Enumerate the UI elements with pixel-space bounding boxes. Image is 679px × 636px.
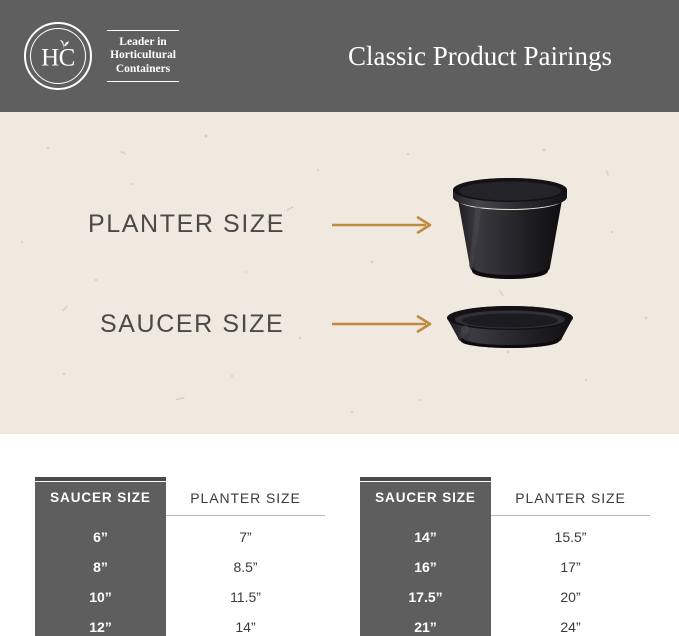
tagline-rule-top <box>107 30 179 31</box>
table-row: 14” <box>360 522 491 552</box>
tagline-rule-bottom <box>107 81 179 82</box>
paper-texture-speckles <box>0 112 679 434</box>
table-row: 6” <box>35 522 166 552</box>
saucer-size-label: SAUCER SIZE <box>100 310 284 339</box>
column-header-planter-size: PLANTER SIZE <box>491 482 650 514</box>
table-row: 24” <box>491 612 650 636</box>
table-row: 7” <box>166 522 325 552</box>
table-row: 14” <box>166 612 325 636</box>
table-row: 12” <box>35 612 166 636</box>
logo-tagline: Leader in Horticultural Containers <box>105 26 181 87</box>
large-sizes-table: SAUCER SIZE PLANTER SIZE 14” 15.5” 16” 1… <box>360 482 650 636</box>
table-row: 10” <box>35 582 166 612</box>
black-saucer-dish-image <box>441 303 579 351</box>
size-tables-section: SAUCER SIZE PLANTER SIZE 6” 7” 8” 8.5” 1… <box>0 434 679 636</box>
planter-arrow-icon <box>330 214 438 236</box>
black-planter-pot-image <box>446 172 574 284</box>
planter-size-label: PLANTER SIZE <box>88 210 285 239</box>
table-row: 17.5” <box>360 582 491 612</box>
table-row: 21” <box>360 612 491 636</box>
hero-panel <box>0 112 679 434</box>
saucer-header-rule <box>360 477 491 481</box>
tagline-line-1: Leader in <box>107 36 179 50</box>
tagline-line-3: Containers <box>107 63 179 77</box>
planter-header-underline <box>166 515 325 516</box>
tagline-line-2: Horticultural <box>107 49 179 63</box>
logo-monogram: HC <box>26 46 90 71</box>
page-title: Classic Product Pairings <box>300 40 660 72</box>
table-row: 8.5” <box>166 552 325 582</box>
sprout-leaf-icon <box>54 37 72 51</box>
saucer-header-rule <box>35 477 166 481</box>
column-header-saucer-size: SAUCER SIZE <box>35 482 166 514</box>
table-row: 20” <box>491 582 650 612</box>
planter-header-underline <box>491 515 650 516</box>
column-header-saucer-size: SAUCER SIZE <box>360 482 491 514</box>
logo-badge-circle: HC <box>24 22 92 90</box>
infographic-page: HC Leader in Horticultural Containers Cl… <box>0 0 679 636</box>
saucer-arrow-icon <box>330 313 438 335</box>
table-row: 15.5” <box>491 522 650 552</box>
table-row: 11.5” <box>166 582 325 612</box>
table-row: 16” <box>360 552 491 582</box>
brand-logo: HC Leader in Horticultural Containers <box>24 22 181 90</box>
table-row: 8” <box>35 552 166 582</box>
header-bar: HC Leader in Horticultural Containers Cl… <box>0 0 679 112</box>
column-header-planter-size: PLANTER SIZE <box>166 482 325 514</box>
table-row: 17” <box>491 552 650 582</box>
small-sizes-table: SAUCER SIZE PLANTER SIZE 6” 7” 8” 8.5” 1… <box>35 482 325 636</box>
